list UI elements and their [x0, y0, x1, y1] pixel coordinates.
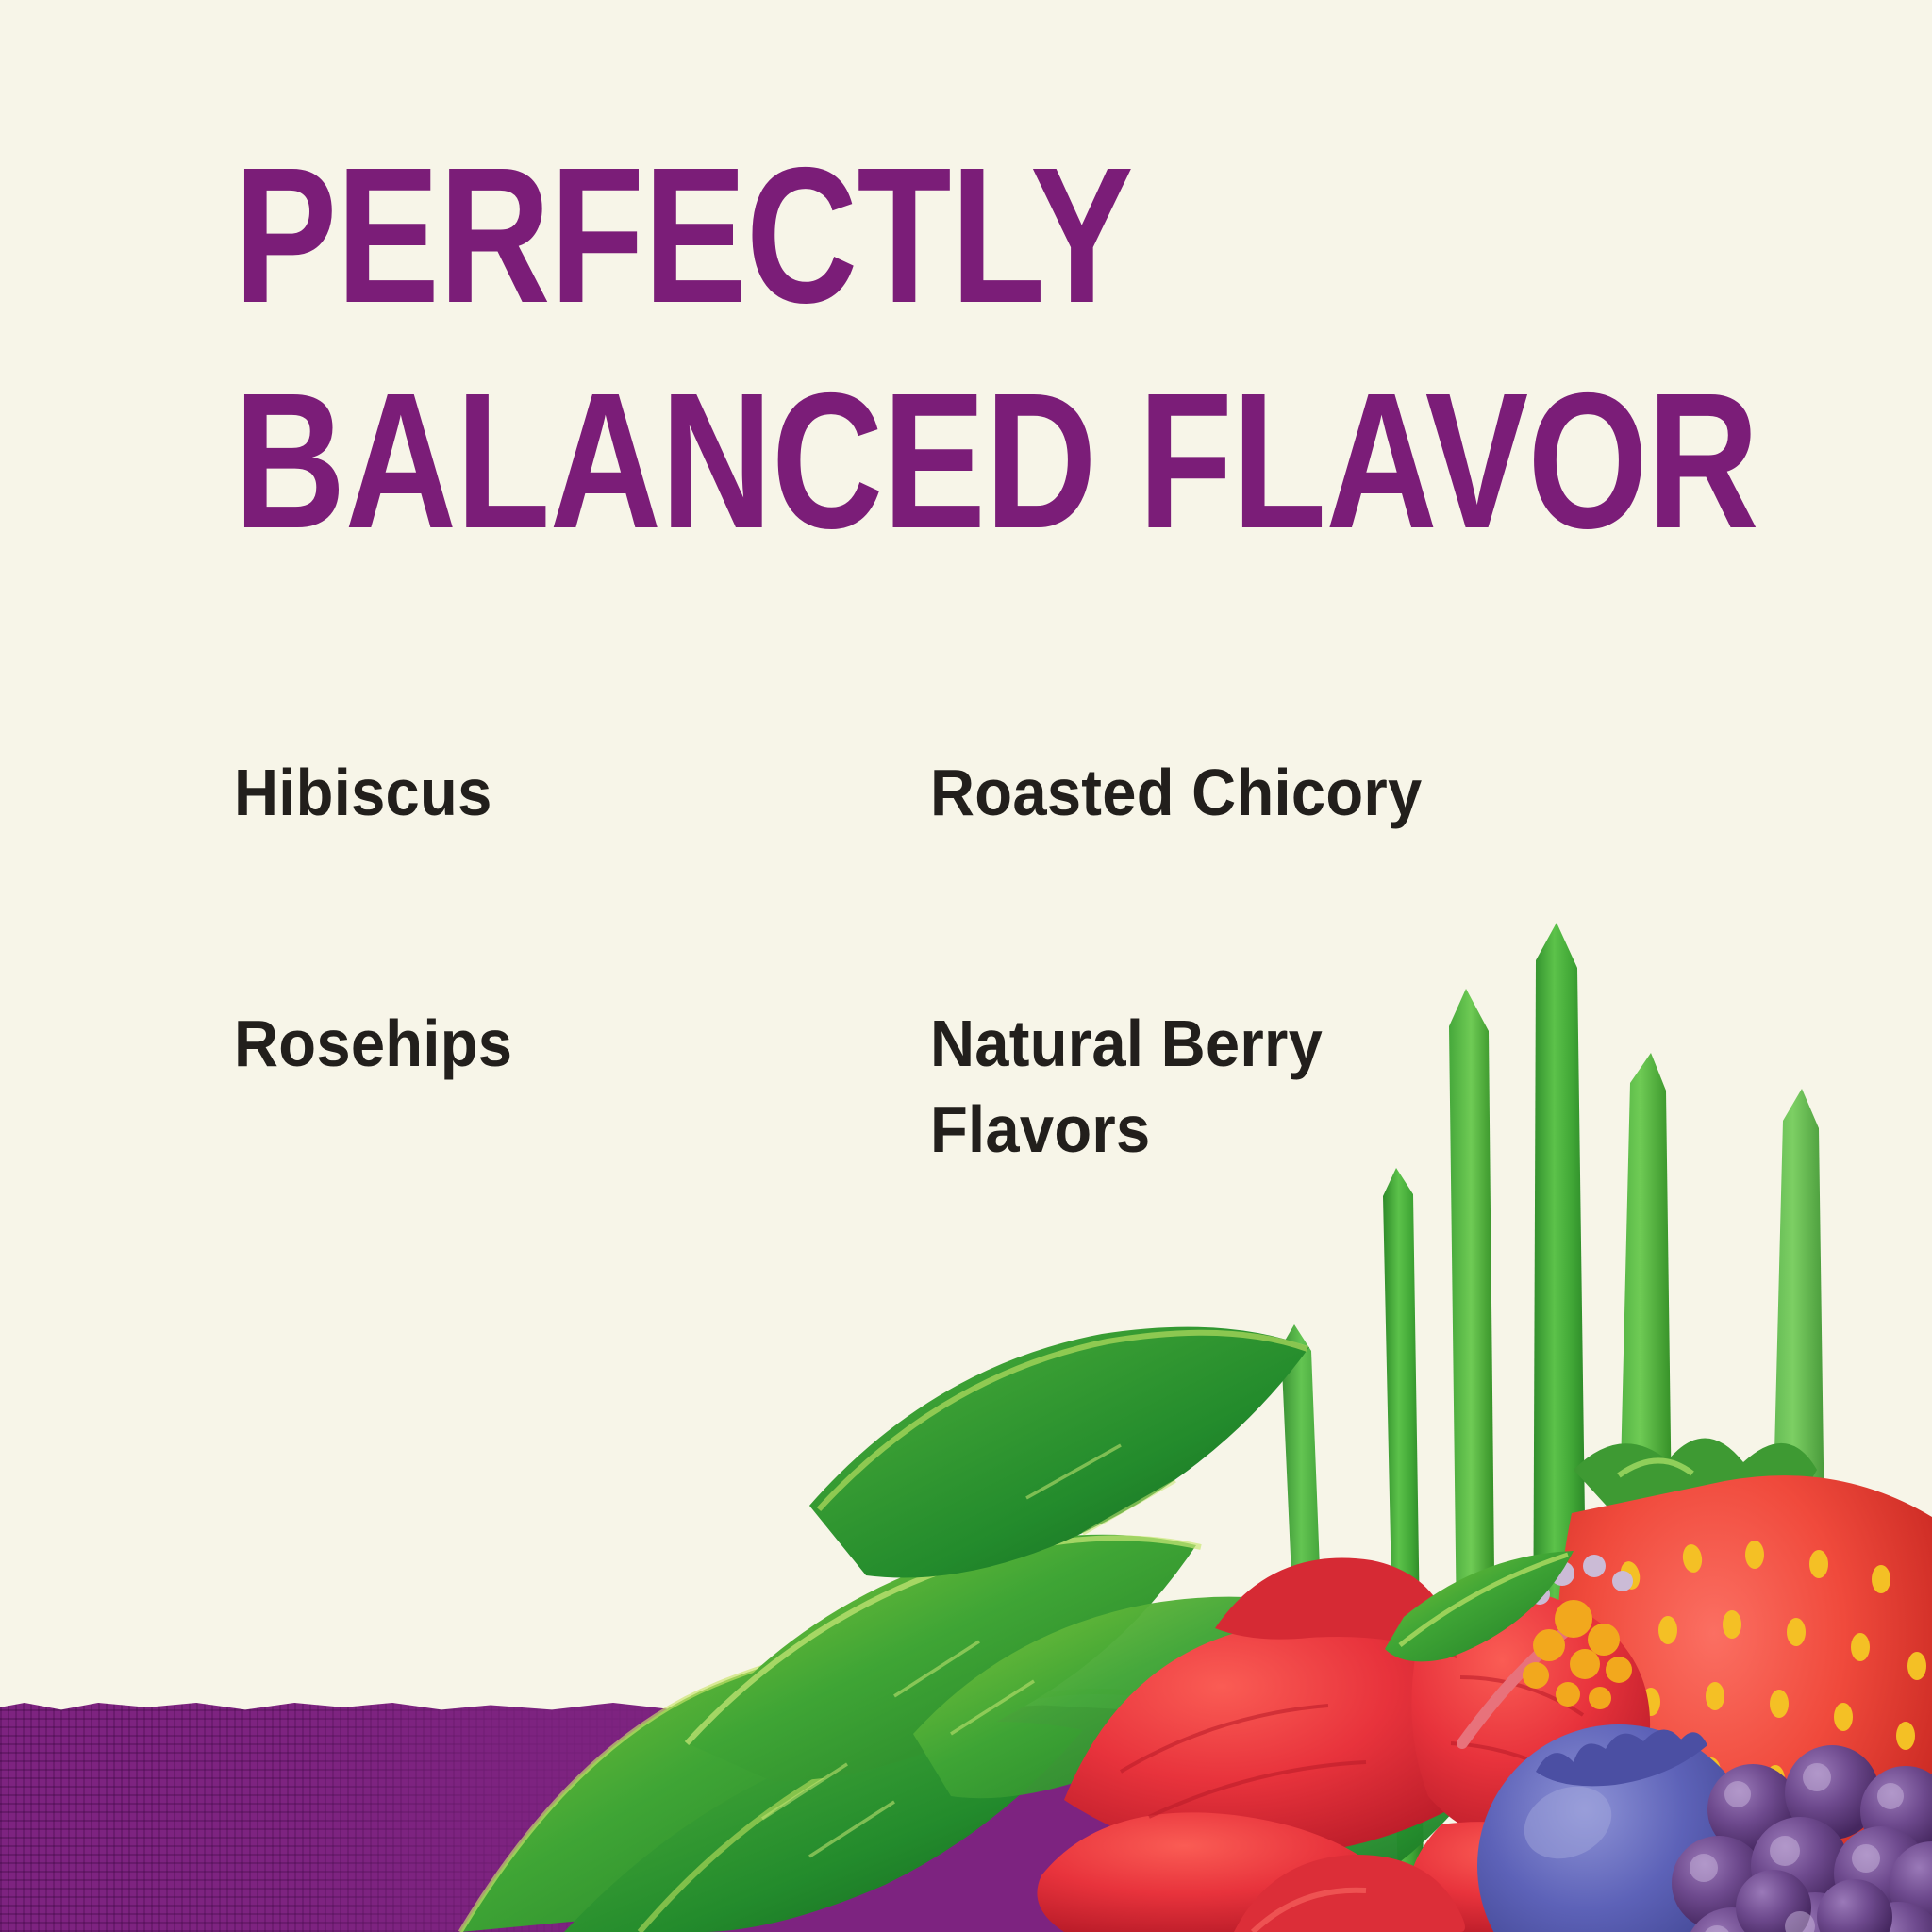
ingredient-item-rosehips: Rosehips	[234, 1001, 881, 1173]
purple-brush-band	[0, 1698, 1226, 1932]
page-title: Perfectly Balanced Flavor	[234, 142, 1411, 557]
canvas-texture-overlay	[0, 1698, 717, 1932]
purple-band-fill	[0, 1698, 1226, 1932]
blackberry-icon	[1672, 1745, 1932, 1932]
ingredient-label-line-1: Natural Berry	[930, 1001, 1474, 1087]
ingredient-label-line-2: Flavors	[930, 1087, 1474, 1173]
ingredient-list: Hibiscus Roasted Chicory Rosehips Natura…	[234, 750, 1328, 1173]
blueberry-icon	[1477, 1724, 1760, 1932]
strawberry-icon	[1557, 1438, 1932, 1932]
poster-canvas: Perfectly Balanced Flavor Hibiscus Roast…	[0, 0, 1932, 1932]
ingredient-row: Rosehips Natural Berry Flavors	[234, 1001, 1328, 1173]
ingredient-label: Roasted Chicory	[930, 750, 1474, 836]
page-title-line-2: Balanced Flavor	[234, 367, 1411, 557]
hibiscus-bud-icon	[1234, 1855, 1465, 1932]
ingredient-item-natural-berry-flavors: Natural Berry Flavors	[930, 1001, 1474, 1173]
ingredient-label: Hibiscus	[234, 750, 881, 836]
ingredient-label: Rosehips	[234, 1001, 881, 1087]
ingredient-item-hibiscus: Hibiscus	[234, 750, 881, 836]
ingredient-row: Hibiscus Roasted Chicory	[234, 750, 1328, 836]
page-title-line-1: Perfectly	[234, 142, 1411, 331]
ingredient-item-roasted-chicory: Roasted Chicory	[930, 750, 1474, 836]
strawberry-leaf-icon	[1385, 1551, 1574, 1661]
